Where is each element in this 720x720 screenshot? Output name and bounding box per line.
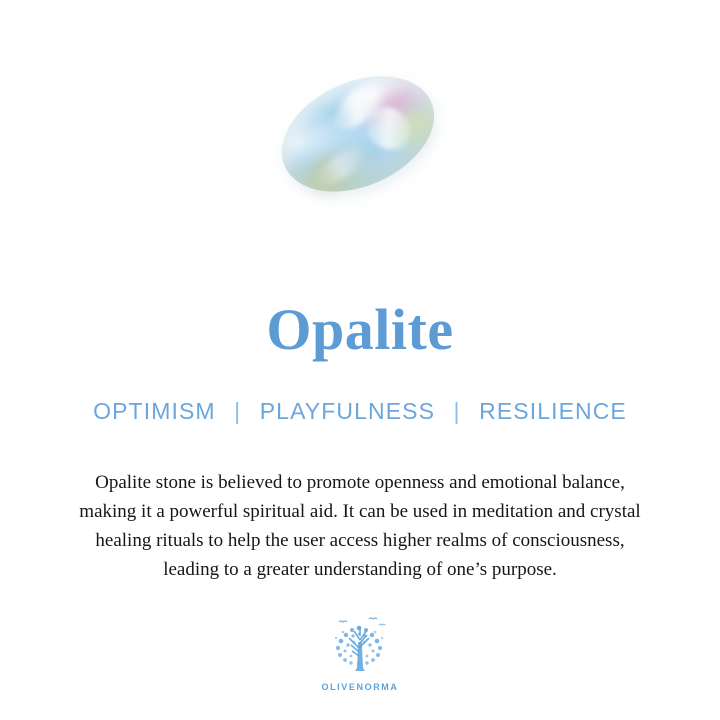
tree-icon <box>323 614 397 680</box>
page-title: Opalite <box>0 297 720 363</box>
keyword-resilience: RESILIENCE <box>479 398 627 424</box>
opalite-stone-image <box>272 68 444 200</box>
brand-wordmark: OLIVENORMA <box>321 682 398 692</box>
product-description: Opalite stone is believed to promote ope… <box>24 468 696 584</box>
keyword-separator: | <box>223 396 252 426</box>
description-line: making it a powerful spiritual aid. It c… <box>24 497 696 526</box>
description-line: healing rituals to help the user access … <box>24 526 696 555</box>
description-line: Opalite stone is believed to promote ope… <box>24 468 696 497</box>
keyword-playfulness: PLAYFULNESS <box>260 398 435 424</box>
product-info-card: Opalite OPTIMISM | PLAYFULNESS | RESILIE… <box>0 0 720 720</box>
product-image-area <box>0 0 720 270</box>
keyword-list: OPTIMISM | PLAYFULNESS | RESILIENCE <box>0 396 720 426</box>
description-line: leading to a greater understanding of on… <box>24 555 696 584</box>
keyword-optimism: OPTIMISM <box>93 398 216 424</box>
brand-logo: OLIVENORMA <box>0 614 720 692</box>
stone-graphic <box>253 39 464 230</box>
keyword-separator: | <box>443 396 472 426</box>
